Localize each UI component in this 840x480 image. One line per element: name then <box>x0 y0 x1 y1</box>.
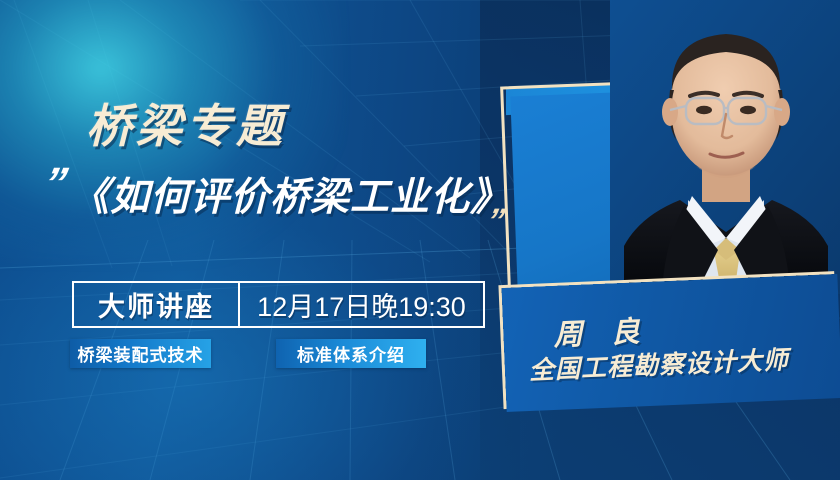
page-title: 桥梁专题 <box>86 103 286 149</box>
speaker-portrait <box>610 0 840 294</box>
lecture-schedule-label: 12月17日晚19:30 <box>257 285 466 324</box>
topic-tag-2[interactable]: 标准体系介绍 <box>276 339 426 368</box>
speaker-nameplate: 周 良 全国工程勘察设计大师 <box>502 274 840 412</box>
topic-tag-1[interactable]: 桥梁装配式技术 <box>70 339 211 368</box>
headline-block: 桥梁专题 ” 《如何评价桥梁工业化》 ” 大师讲座 12月17日晚19:30 桥… <box>0 0 530 480</box>
lecture-schedule: 12月17日晚19:30 <box>240 283 483 326</box>
lecture-category: 大师讲座 <box>74 283 240 326</box>
lecture-category-label: 大师讲座 <box>98 285 214 324</box>
quote-open-icon: ” <box>39 162 70 206</box>
speaker-composition: 周 良 全国工程勘察设计大师 <box>490 0 840 480</box>
webinar-poster: 桥梁专题 ” 《如何评价桥梁工业化》 ” 大师讲座 12月17日晚19:30 桥… <box>0 0 840 480</box>
lecture-info-bar: 大师讲座 12月17日晚19:30 <box>72 281 485 328</box>
lecture-title: 《如何评价桥梁工业化》 <box>70 178 510 217</box>
